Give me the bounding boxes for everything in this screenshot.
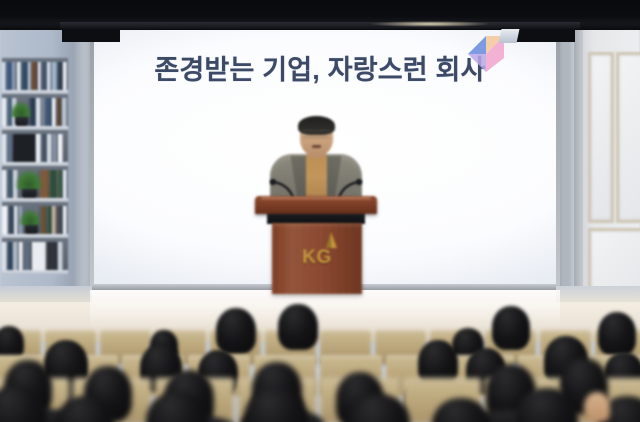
audience-head <box>492 306 530 350</box>
ceiling-light-rail <box>60 22 580 29</box>
bookshelf-shelf-4 <box>2 166 68 202</box>
auditorium-photo: 존경받는 기업, 자랑스런 회사 <box>0 0 640 422</box>
ceiling-speaker-left <box>62 29 120 42</box>
podium-logo-text: KG <box>272 247 362 269</box>
speaker-mouth <box>312 145 321 148</box>
audience-head <box>598 312 636 356</box>
glasses-icon <box>303 130 330 138</box>
podium-top-highlight <box>261 197 371 201</box>
podium: KG <box>255 196 377 294</box>
bookshelf-interior <box>2 58 68 274</box>
audience <box>0 300 640 422</box>
slide-headline: 존경받는 기업, 자랑스런 회사 <box>0 48 640 87</box>
podium-top <box>255 196 377 214</box>
podium-body: KG <box>272 223 362 294</box>
bookshelf-shelf-3 <box>2 130 68 166</box>
bookshelf-shelf-6 <box>2 238 68 274</box>
bookshelf-shelf-2 <box>2 94 68 130</box>
audience-head <box>278 304 318 350</box>
ceiling-speaker-right <box>513 29 575 42</box>
ceiling-vent <box>499 29 520 43</box>
audience-head <box>216 308 256 354</box>
ceiling-light-glow <box>370 21 490 27</box>
bookshelf-shelf-5 <box>2 202 68 238</box>
raised-hand <box>584 392 610 422</box>
